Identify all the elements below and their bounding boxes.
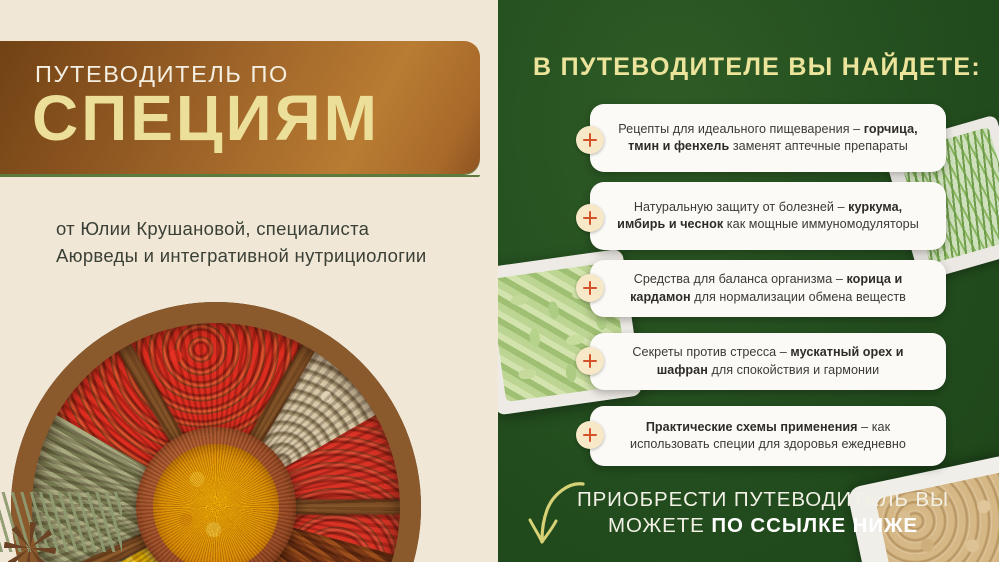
left-panel: ПУТЕВОДИТЕЛЬ ПО СПЕЦИЯМ от Юлии Крушанов… [0,0,500,562]
cta-line-1: ПРИОБРЕСТИ ПУТЕВОДИТЕЛЬ ВЫ [563,487,963,513]
title-line-2: СПЕЦИЯМ [32,86,380,150]
cta-text: ПРИОБРЕСТИ ПУТЕВОДИТЕЛЬ ВЫ МОЖЕТЕ ПО ССЫ… [563,487,963,539]
feature-card[interactable]: Натуральную защиту от болезней – куркума… [590,182,946,250]
card-text-post: для спокойствия и гармонии [708,363,879,377]
plus-icon [576,204,604,232]
slide-root: ПУТЕВОДИТЕЛЬ ПО СПЕЦИЯМ от Юлии Крушанов… [0,0,999,562]
title-banner: ПУТЕВОДИТЕЛЬ ПО СПЕЦИЯМ [0,41,480,174]
card-text-pre: Секреты против стресса – [632,345,790,359]
plus-icon [576,421,604,449]
card-text-bold: Практические схемы применения [646,420,858,434]
card-text-pre: Рецепты для идеального пищеварения – [618,122,863,136]
panel-divider [489,0,498,562]
feature-card[interactable]: Рецепты для идеального пищеварения – гор… [590,104,946,172]
plus-icon [576,274,604,302]
feature-card[interactable]: Средства для баланса организма – корица … [590,260,946,317]
feature-card[interactable]: Практические схемы применения – как испо… [590,406,946,466]
panel-heading: В ПУТЕВОДИТЕЛЕ ВЫ НАЙДЕТЕ: [497,53,999,82]
card-text-post: как мощные иммуномодуляторы [723,217,919,231]
card-text-post: для нормализации обмена веществ [691,290,906,304]
card-text-pre: Средства для баланса организма – [634,272,847,286]
author-byline: от Юлии Крушановой, специалиста Аюрведы … [56,215,456,269]
card-text-post: заменят аптечные препараты [729,139,908,153]
cta-line-2-plain: МОЖЕТЕ [608,514,711,537]
feature-card[interactable]: Секреты против стресса – мускатный орех … [590,333,946,390]
card-text-pre: Натуральную защиту от болезней – [634,200,848,214]
right-panel: В ПУТЕВОДИТЕЛЕ ВЫ НАЙДЕТЕ: Рецепты для и… [497,0,999,562]
plus-icon [576,126,604,154]
plus-icon [576,347,604,375]
cta-line-2: МОЖЕТЕ ПО ССЫЛКЕ НИЖЕ [563,513,963,539]
cta-line-2-bold: ПО ССЫЛКЕ НИЖЕ [711,514,918,537]
